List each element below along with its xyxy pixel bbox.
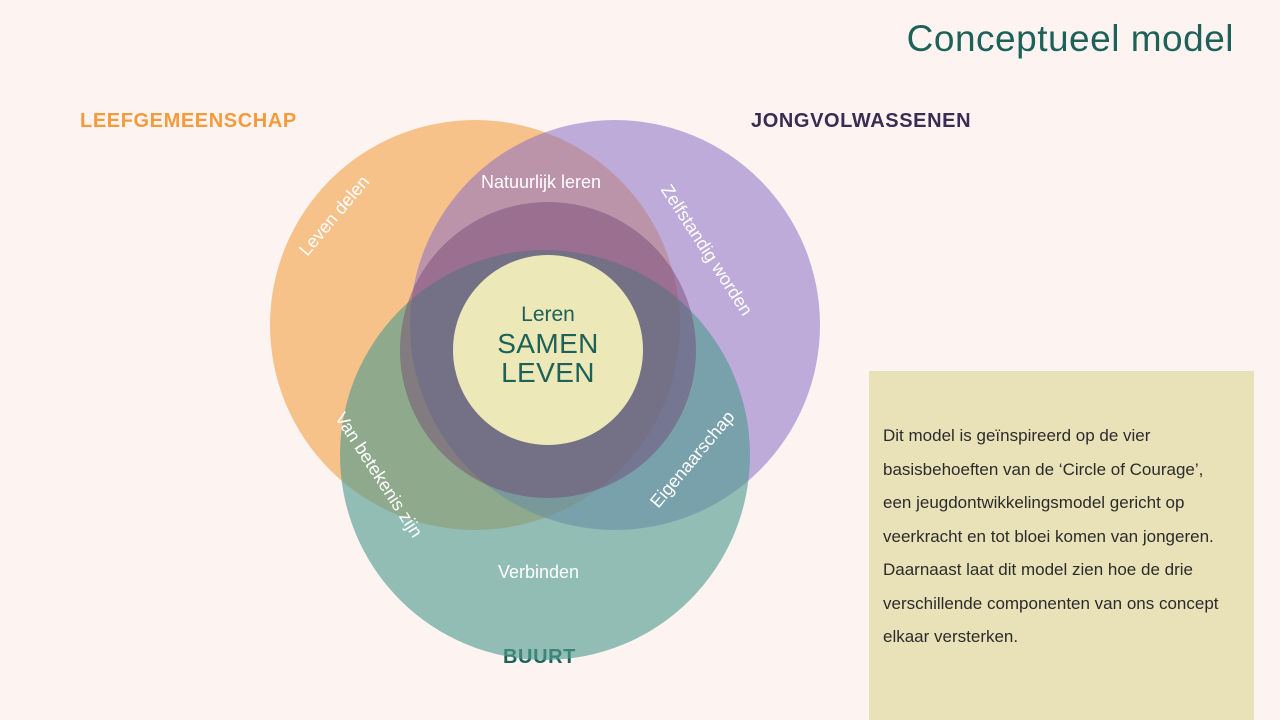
description-panel: Dit model is geïnspireerd op de vier bas…: [869, 371, 1254, 720]
page-title: Conceptueel model: [907, 18, 1234, 60]
venn-core-circle: [453, 255, 643, 445]
venn-diagram: [260, 110, 830, 680]
description-text: Dit model is geïnspireerd op de vier bas…: [883, 419, 1234, 654]
